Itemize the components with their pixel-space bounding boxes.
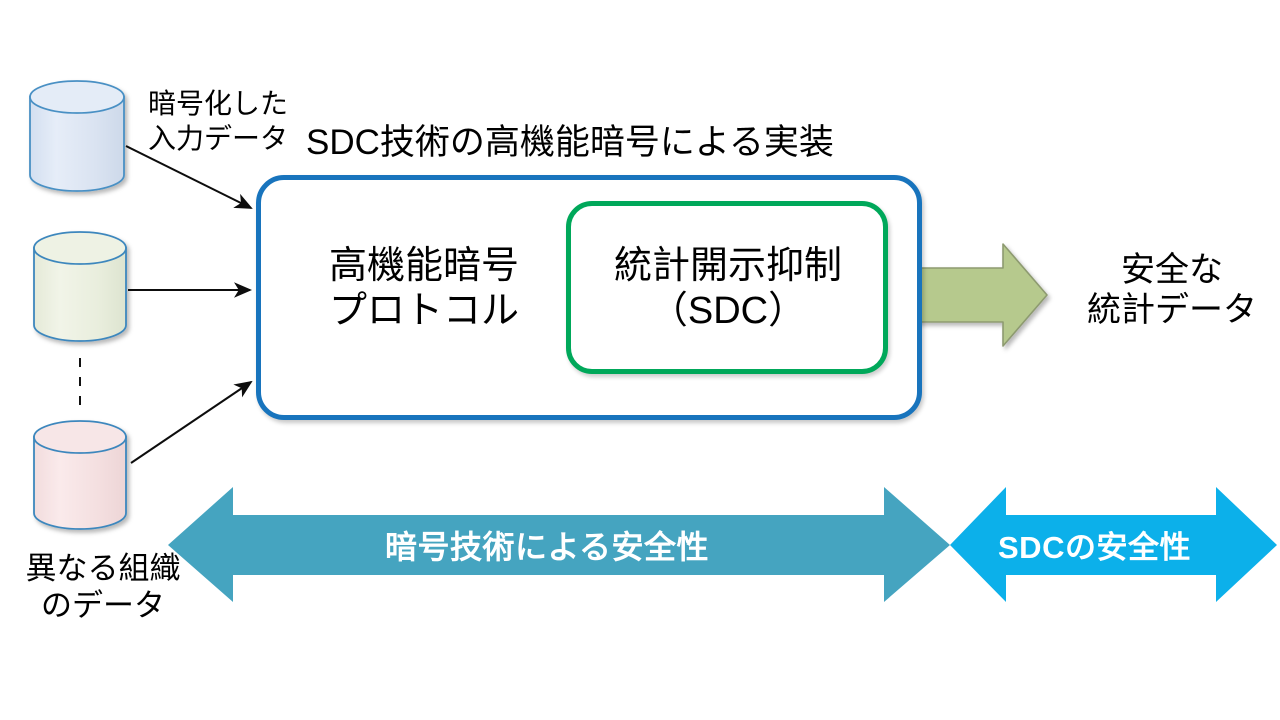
crypto-security-band-label: 暗号技術による安全性 — [385, 522, 709, 568]
cylinder-green — [34, 232, 126, 341]
diagram-canvas: SDC技術の高機能暗号による実装 高機能暗号 プロトコル 統計開示抑制 （SDC… — [0, 0, 1280, 720]
encrypted-input-label: 暗号化した 入力データ — [148, 86, 288, 156]
cylinder-blue — [30, 81, 124, 191]
cylinder-pink — [34, 421, 126, 529]
page-title: SDC技術の高機能暗号による実装 — [306, 122, 834, 163]
crypto-protocol-label: 高機能暗号 プロトコル — [300, 244, 548, 334]
sdc-label: 統計開示抑制 （SDC） — [578, 244, 878, 334]
org-data-label: 異なる組織 のデータ — [12, 550, 194, 624]
sdc-security-band-label: SDCの安全性 — [998, 522, 1191, 567]
connector-arrow-bottom — [131, 382, 251, 463]
safe-statistics-label: 安全な 統計データ — [1072, 250, 1272, 330]
